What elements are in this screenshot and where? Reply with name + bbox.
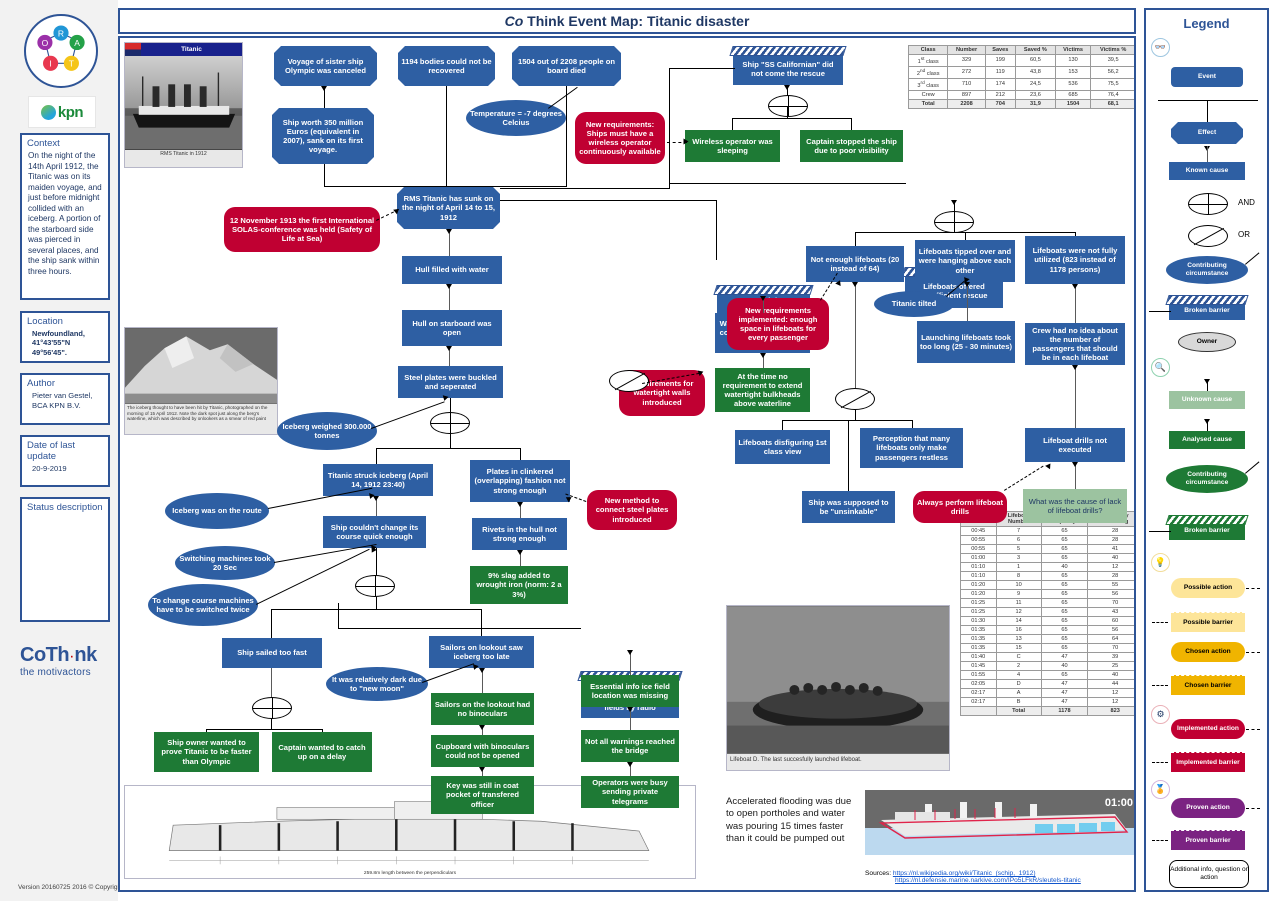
link-gate-children-steel [376,448,521,449]
table-cell: 212 [985,90,1015,99]
table-cell: 70 [1088,599,1136,608]
table-cell: 40 [1088,554,1136,563]
table-cell: 2nd class [909,66,948,78]
node-hull-filled[interactable]: Hull filled with water [402,256,502,284]
table-cell [961,707,997,716]
link-died-down [566,86,567,187]
table-cell: C [996,653,1041,662]
binoculars-icon: 👓 [1151,38,1170,57]
table-cell: 43,8 [1015,66,1055,78]
node-dark-new-moon[interactable]: It was relatively dark due to "new moon" [326,667,428,701]
node-not-fully-utilized[interactable]: Lifeboats were not fully utilized (823 i… [1025,236,1125,284]
table-cell: 13 [996,635,1041,644]
table-cell: 329 [948,55,985,67]
link-drills-to-crew [1075,365,1076,428]
table-cell: 47 [1041,689,1088,698]
node-new-req-wireless[interactable]: New requirements: Ships must have a wire… [575,112,665,164]
table-cell: 272 [948,66,985,78]
node-key-in-coat[interactable]: Key was still in coat pocket of transfer… [431,776,534,814]
table-cell: 65 [1041,572,1088,581]
table-cell: 01:35 [961,644,997,653]
link-perception-up [912,420,913,428]
legend-unknown-cause: Unknown cause [1169,391,1245,409]
status-panel-title: Status description [22,499,108,514]
table-cell: 64 [1088,635,1136,644]
table-cell: 60 [1088,617,1136,626]
table-cell: 704 [985,99,1015,108]
table-row: 2nd class27211943,815356,2 [909,66,1136,78]
legend-proven-action: Proven action [1171,798,1245,818]
link-always-drills-dash [1004,466,1044,491]
table-cell: 3 [996,554,1041,563]
legend-event: Event [1171,67,1243,87]
table-cell: 16 [996,626,1041,635]
table-cell: 39,5 [1091,55,1136,67]
table-cell: 65 [1041,581,1088,590]
node-captain-stopped[interactable]: Captain stopped the ship due to poor vis… [800,130,903,162]
table-cell: 01:25 [961,599,997,608]
table-cell: 823 [1088,707,1136,716]
link-or-stem-lower [855,410,856,420]
sources-block: Sources: https://nl.wikipedia.org/wiki/T… [865,870,1081,884]
lightbulb-icon: 💡 [1151,553,1170,572]
cothink-word-2: nk [74,644,96,666]
table-cell: 01:55 [961,671,997,680]
table-cell: 5 [996,545,1041,554]
iceberg-photo-caption: The iceberg thought to have been hit by … [125,404,277,423]
location-panel: Location Newfoundland, 41°43'55"N 49°56'… [20,311,110,363]
table-row: Total1178823 [961,707,1137,716]
link-or-to-not-enough [855,282,856,388]
table-cell: Total [996,707,1041,716]
arrow-plates [517,502,523,507]
table-row: 01:40C4739 [961,653,1137,662]
lifeboat-launch-table: Launch timeLifeboat NumberNominal capaci… [960,511,1136,716]
arrow-bulkheads [760,353,766,358]
legend-broken-barrier: Broken barrier [1169,302,1245,320]
legend-title: Legend [1146,10,1267,31]
table-cell: 897 [948,90,985,99]
table-cell: 65 [1041,626,1088,635]
link-watertight-to-backbone [500,200,716,201]
table-cell: 10 [996,581,1041,590]
event-map-canvas: Titanic RMS Titanic in 1912 [118,36,1136,892]
node-unsinkable[interactable]: Ship was supposed to be "unsinkable" [802,491,895,523]
node-launching-too-long[interactable]: Launching lifeboats took too long (25 - … [917,321,1015,363]
link-crew-to-utilized [1075,284,1076,323]
table-cell: 174 [985,78,1015,90]
link-gate-to-steel [450,398,451,412]
link-struck-iceberg-up [376,448,377,464]
node-rms-sunk[interactable]: RMS Titanic has sunk on the night of Apr… [397,187,500,229]
table-row: 01:5546540 [961,671,1137,680]
kpn-label: kpn [58,104,83,121]
gate-or-rms-sunk [609,370,649,392]
arrow-new-req-wireless [684,139,689,145]
cothink-tagline: the motivactors [20,667,110,678]
link-shipworth-to-sunk [324,164,325,187]
source-link-2[interactable]: https://nl.defensie.marine.narkive.com/I… [895,877,1081,884]
legend-link-unknown [1207,379,1208,391]
node-perception-restless[interactable]: Perception that many lifeboats only make… [860,428,963,468]
legend-divider-stem [1207,100,1208,122]
arrow-crew [1072,365,1078,370]
gear-icon: ⚙ [1151,705,1170,724]
table-cell: A [996,689,1041,698]
page-title: Co Think Event Map: Titanic disaster [118,8,1136,34]
node-drills-not-executed[interactable]: Lifeboat drills not executed [1025,428,1125,462]
location-panel-body: Newfoundland, 41°43'55"N 49°56'45". [22,328,108,358]
table-row: 3rd class71017424,553675,5 [909,78,1136,90]
link-californian-left-down [669,68,670,188]
arrow-not-enough-or [852,282,858,287]
table-header-cell: Victims % [1091,46,1136,55]
table-cell: 65 [1041,635,1088,644]
link-sailors-up [481,609,482,636]
link-californian-left [669,68,735,69]
table-cell: 9 [996,590,1041,599]
table-cell: 2 [996,662,1041,671]
table-cell: 01:35 [961,626,997,635]
table-cell: 68,1 [1091,99,1136,108]
table-cell: 710 [948,78,985,90]
table-row: 01:0036540 [961,554,1137,563]
author-panel-body: Pieter van Gestel, BCA KPN B.V. [22,390,108,411]
node-rivets[interactable]: Rivets in the hull not strong enough [472,518,567,550]
legend-dash-chosen-barrier [1152,685,1168,686]
table-header-cell: Number [948,46,985,55]
table-cell: 39 [1088,653,1136,662]
table-cell: 01:20 [961,581,997,590]
node-essential-info-missing[interactable]: Essential info ice field location was mi… [581,675,679,707]
table-cell: 1st class [909,55,948,67]
author-panel: Author Pieter van Gestel, BCA KPN B.V. [20,373,110,425]
legend-dash-possible-action [1246,588,1260,589]
kpn-mark-icon [41,105,56,120]
legend-owner: Owner [1178,332,1236,352]
table-cell: 47 [1041,653,1088,662]
node-not-all-warnings[interactable]: Not all warnings reached the bridge [581,730,679,762]
source-link-1[interactable]: https://nl.wikipedia.org/wiki/Titanic_(s… [893,870,1036,877]
table-cell: 4 [996,671,1041,680]
node-not-enough-lifeboats[interactable]: Not enough lifeboats (20 instead of 64) [806,246,904,282]
legend-broken-barrier-green: Broken barrier [1169,522,1245,540]
arrow-sailors-late [479,668,485,673]
table-cell: 12 [1088,689,1136,698]
gate-and-steel-plates [430,412,470,434]
arrow-cupboard [479,767,485,772]
table-row: 01:35156570 [961,644,1137,653]
gate-and-course [355,575,395,597]
table-cell: 1504 [1055,99,1090,108]
table-cell: 01:30 [961,617,997,626]
table-cell: 24,5 [1015,78,1055,90]
node-iceberg-on-route[interactable]: Iceberg was on the route [165,493,269,529]
link-and-children [732,118,852,119]
legend-and-label: AND [1238,198,1255,207]
orait-logo: R A T I O [24,14,98,88]
table-row: 02:17A4712 [961,689,1137,698]
link-incorrect-to-main [338,628,581,629]
table-cell: 01:40 [961,653,997,662]
table-cell: 56,2 [1091,66,1136,78]
table-cell: 00:55 [961,545,997,554]
link-gate-course-children [271,609,481,610]
table-row: Crew89721223,668576,4 [909,90,1136,99]
lifeboat-photo: Lifeboat D. The last succesfully launche… [726,605,950,771]
status-panel: Status description [20,497,110,622]
legend-or-label: OR [1238,230,1250,239]
node-lifeboats-disfiguring[interactable]: Lifeboats disfiguring 1st class view [735,430,830,464]
table-cell: 11 [996,599,1041,608]
arrow-not-enough [835,279,843,286]
link-sailed-fast-up [271,609,272,638]
node-sailors-saw-late[interactable]: Sailors on lookout saw iceberg too late [429,636,534,668]
node-crew-no-idea[interactable]: Crew had no idea about the number of pas… [1025,323,1125,365]
arrow-hull-filled [446,284,452,289]
link-incorrect-branch [338,603,339,629]
table-cell: 41 [1088,545,1136,554]
legend-contributing-green: Contributing circumstance [1166,465,1248,493]
node-steel-plates[interactable]: Steel plates were buckled and seperated [398,366,503,398]
link-temperature-died [548,87,578,109]
arrow-rivets [517,550,523,555]
node-cupboard-binoculars[interactable]: Cupboard with binoculars could not be op… [431,735,534,767]
table-header-cell: Saves [985,46,1015,55]
table-cell: 3rd class [909,78,948,90]
legend-dash-possible-barrier [1152,622,1168,623]
link-gate-sailed-down [271,719,272,729]
legend-panel: Legend 👓 Event Effect Known cause AND OR… [1144,8,1269,892]
table-cell: 02:05 [961,680,997,689]
link-utilized-up [1075,232,1076,236]
sidebar: R A T I O kpn Context On the night of th… [0,0,118,901]
svg-text:R: R [58,28,64,38]
table-cell: 40 [1041,563,1088,572]
node-hull-starboard[interactable]: Hull on starboard was open [402,310,502,346]
title-text: Think Event Map: Titanic disaster [523,13,749,29]
legend-analysed-cause: Analysed cause [1169,431,1245,449]
node-solas[interactable]: 12 November 1913 the first International… [224,207,380,252]
link-owner-up [206,729,207,732]
table-row: 1st class32919960,513039,5 [909,55,1136,67]
svg-text:A: A [74,38,80,48]
legend-arrow-contributing [1245,252,1259,264]
link-sailed-to-gate [271,668,272,680]
table-cell: 12 [1088,563,1136,572]
flooding-animation: 01:00 [865,790,1136,855]
legend-arrow-contributing-green [1245,461,1259,473]
legend-dash-implemented-action [1246,729,1260,730]
table-row: 01:1014012 [961,563,1137,572]
arrow-sunk [446,229,452,234]
table-row: 01:35136564 [961,635,1137,644]
link-captain-delay-up [322,729,323,732]
table-cell: 01:45 [961,662,997,671]
node-owner-faster[interactable]: Ship owner wanted to prove Titanic to be… [154,732,259,772]
class-statistics-table: ClassNumberSavesSaved %VictimsVictims %1… [908,45,1136,109]
table-cell: 65 [1041,599,1088,608]
table-cell: 60,5 [1015,55,1055,67]
link-gate-stem-steel [450,434,451,449]
svg-text:01:00: 01:00 [1105,797,1133,809]
table-cell: D [996,680,1041,689]
legend-link-analysed [1207,419,1208,431]
table-row: 01:30146560 [961,617,1137,626]
table-cell: 65 [1041,527,1088,536]
link-tipped-up [965,232,966,240]
node-sailed-too-fast[interactable]: Ship sailed too fast [222,638,322,668]
context-panel-body: On the night of the 14th April 1912, the… [22,150,108,278]
node-iceberg-weight[interactable]: Iceberg weighed 300.000 tonnes [277,412,377,450]
node-titanic-tilted[interactable]: Titanic tilted [874,291,954,317]
link-bodies-down [446,86,447,187]
arrow-lifeboats-insufficient [951,200,957,205]
legend-gate-and [1188,193,1228,215]
node-new-method[interactable]: New method to connect steel plates intro… [587,490,677,530]
arrow-essential [627,707,633,712]
link-not-enough-up [855,232,856,246]
arrow-hull-starboard [446,346,452,351]
table-row: 02:17B4712 [961,698,1137,707]
node-captain-delay[interactable]: Captain wanted to catch up on a delay [272,732,372,772]
node-no-requirement-bulkheads[interactable]: At the time no requirement to extend wat… [715,368,810,412]
table-cell: 01:10 [961,572,997,581]
table-cell: 6 [996,536,1041,545]
node-bodies-not-recovered[interactable]: 1194 bodies could not be recovered [398,46,495,86]
node-ship-worth[interactable]: Ship worth 350 million Euros (equivalent… [272,108,374,164]
table-cell: 28 [1088,536,1136,545]
node-plates-clinkered[interactable]: Plates in clinkered (overlapping) fashio… [470,460,570,502]
table-header-cell: Class [909,46,948,55]
table-row: 01:20106555 [961,581,1137,590]
table-cell: 40 [1041,662,1088,671]
legend-chosen-action: Chosen action [1171,642,1245,662]
svg-text:T: T [69,59,74,69]
arrow-watertight [760,296,766,301]
context-panel-title: Context [22,135,108,150]
node-switching-machines[interactable]: Switching machines took 20 Sec [175,546,275,580]
certificate-icon: 🏅 [1151,780,1170,799]
legend-proven-barrier: Proven barrier [1171,830,1245,850]
table-cell: 47 [1041,680,1088,689]
gate-and-sailed-fast [252,697,292,719]
table-row: 00:5556541 [961,545,1137,554]
table-cell: 01:35 [961,635,997,644]
table-cell: 23,6 [1015,90,1055,99]
node-new-req-space[interactable]: New requirements implemented: enough spa… [727,298,829,350]
link-californian-to-sunk [500,188,670,189]
svg-text:O: O [42,38,49,48]
table-row: 01:4524025 [961,662,1137,671]
legend-implemented-barrier: Implemented barrier [1171,752,1245,772]
node-no-binoculars[interactable]: Sailors on the lookout had no binoculars [431,693,534,725]
node-change-course-twice[interactable]: To change course machines have to be swi… [148,584,258,626]
svg-text:259.8m length between the perp: 259.8m length between the perpendiculars [364,870,457,876]
date-panel: Date of last update 20-9-2019 [20,435,110,487]
location-panel-title: Location [22,313,108,328]
table-row: 01:1086528 [961,572,1137,581]
legend-additional-info: Additional info, question or action [1169,860,1249,888]
table-cell: 44 [1088,680,1136,689]
table-cell: 2208 [948,99,985,108]
legend-barrier-green-line [1149,531,1171,532]
legend-possible-barrier: Possible barrier [1171,612,1245,632]
node-ss-californian[interactable]: Ship "SS Californian" did not come the r… [733,53,843,85]
table-cell: 01:25 [961,608,997,617]
cothink-logo: CoTh·nk the motivactors [20,644,110,678]
gate-or-not-enough [835,388,875,410]
table-cell: 153 [1055,66,1090,78]
node-what-cause-drills[interactable]: What was the cause of lack of lifeboat d… [1023,489,1127,523]
table-cell: 65 [1041,590,1088,599]
node-struck-iceberg[interactable]: Titanic struck iceberg (April 14, 1912 2… [323,464,433,496]
link-gate-course-stem [376,548,377,575]
legend-link-effect [1207,146,1208,162]
link-gate-course-down [376,597,377,609]
node-operators-busy[interactable]: Operators were busy sending private tele… [581,776,679,808]
table-cell: B [996,698,1041,707]
magnifier-icon: 🔍 [1151,358,1170,377]
table-cell: 65 [1041,671,1088,680]
legend-dash-proven-barrier [1152,840,1168,841]
date-panel-body: 20-9-2019 [22,463,108,475]
table-row: Total220870431,9150468,1 [909,99,1136,108]
node-people-died[interactable]: 1504 out of 2208 people on board died [512,46,621,86]
table-cell: 43 [1088,608,1136,617]
table-cell: 536 [1055,78,1090,90]
context-panel: Context On the night of the 14th April 1… [20,133,110,300]
node-voyage-olympic[interactable]: Voyage of sister ship Olympic was cancel… [274,46,377,86]
table-row: 01:25116570 [961,599,1137,608]
arrow-warnings [627,762,633,767]
node-wireless-sleeping[interactable]: Wireless operator was sleeping [685,130,780,162]
node-always-drills[interactable]: Always perform lifeboat drills [913,491,1007,523]
node-lifeboats-tipped[interactable]: Lifeboats tipped over and were hanging a… [915,240,1015,282]
link-disfiguring-up [782,420,783,430]
table-cell: 65 [1041,608,1088,617]
legend-dash-proven-action [1246,808,1260,809]
arrow-olympic [321,86,327,91]
table-row: 01:35166556 [961,626,1137,635]
link-lifeboats-gate-stem [954,222,955,232]
table-cell: 00:55 [961,536,997,545]
node-slag[interactable]: 9% slag added to wrought iron (norm: 2 a… [470,566,568,604]
iceberg-photo: The iceberg thought to have been hit by … [124,327,278,435]
table-cell: 12 [996,608,1041,617]
author-panel-title: Author [22,375,108,390]
titanic-photo-header: Titanic [141,43,242,56]
table-cell: 56 [1088,626,1136,635]
table-cell: 65 [1041,554,1088,563]
status-panel-body [22,514,108,516]
table-cell: 75,5 [1091,78,1136,90]
table-cell: 7 [996,527,1041,536]
legend-chosen-barrier: Chosen barrier [1171,675,1245,695]
flooding-info: Accelerated flooding was due to open por… [726,796,856,846]
table-header-cell: Saved % [1015,46,1055,55]
titanic-photo: Titanic RMS Titanic in 1912 [124,42,243,168]
date-panel-title: Date of last update [22,437,108,463]
table-row: 01:25126543 [961,608,1137,617]
table-cell: 1178 [1041,707,1088,716]
link-wireless-up [732,118,733,130]
table-cell: 01:00 [961,554,997,563]
svg-text:I: I [49,59,51,69]
table-cell: 199 [985,55,1015,67]
link-captain-up [851,118,852,130]
link-gate-sailed-children [206,729,322,730]
